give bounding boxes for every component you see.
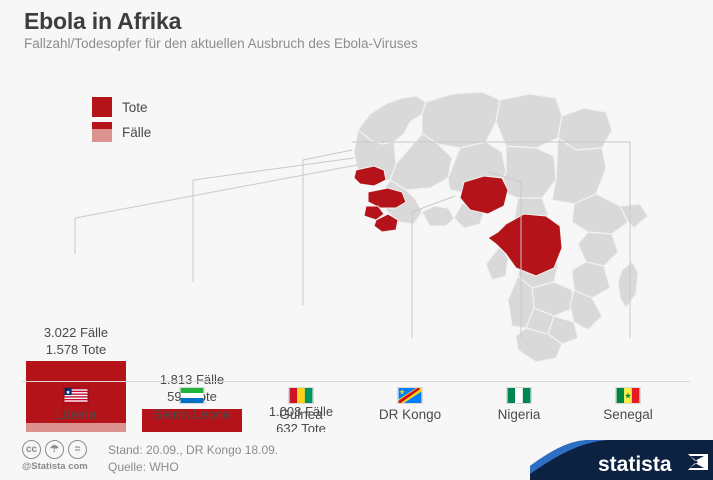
bar-group-sierra-leone: 1.813 Fälle 593 Tote bbox=[142, 99, 242, 480]
tick-sierra-leone: Sierra Leone bbox=[130, 383, 254, 422]
bar-cases-label: 3.022 Fälle bbox=[14, 324, 138, 341]
cc-nd-icon: = bbox=[68, 440, 87, 459]
tick-senegal: Senegal bbox=[566, 383, 690, 422]
flag-senegal-icon bbox=[615, 387, 641, 404]
country-label: Guinea bbox=[239, 407, 363, 422]
source-note: Stand: 20.09., DR Kongo 18.09. Quelle: W… bbox=[108, 442, 278, 476]
bar-group-senegal: 1 Fall 0 Tote bbox=[578, 99, 678, 480]
legend: Tote Fälle bbox=[92, 96, 151, 146]
legend-item-deaths[interactable]: Tote bbox=[92, 96, 151, 118]
creative-commons-block: cc ☂ = @Statista com bbox=[22, 440, 88, 472]
bar-group-liberia: 3.022 Fälle 1.578 Tote bbox=[26, 99, 126, 480]
country-label: Nigeria bbox=[457, 407, 581, 422]
tick-nigeria: Nigeria bbox=[457, 383, 581, 422]
bar-chart: 3.022 Fälle 1.578 Tote 1.813 Fälle 593 T… bbox=[0, 0, 713, 480]
tick-guinea: Guinea bbox=[239, 383, 363, 422]
bar-deaths-label: 1.578 Tote bbox=[14, 341, 138, 358]
country-label: Sierra Leone bbox=[130, 407, 254, 422]
bar-group-guinea: 1.008 Fälle 632 Tote bbox=[251, 99, 351, 480]
source-line-quelle: Quelle: WHO bbox=[108, 459, 278, 476]
legend-label-cases: Fälle bbox=[122, 125, 151, 140]
infographic-root: Ebola in Afrika Fallzahl/Todesopfer für … bbox=[0, 0, 713, 480]
cc-icon: cc bbox=[22, 440, 41, 459]
statista-logo[interactable]: statista bbox=[530, 440, 713, 480]
legend-swatch-deaths-icon bbox=[92, 97, 112, 117]
bar-label-liberia: 3.022 Fälle 1.578 Tote bbox=[14, 324, 138, 358]
bar-group-dr-congo: 68 Fälle 41 Tote bbox=[360, 99, 460, 480]
legend-item-cases[interactable]: Fälle bbox=[92, 121, 151, 143]
legend-label-deaths: Tote bbox=[122, 100, 148, 115]
statista-logo-text: statista bbox=[598, 453, 672, 476]
flag-dr-congo-icon bbox=[397, 387, 423, 404]
cc-by-icon: ☂ bbox=[45, 440, 64, 459]
country-label: DR Kongo bbox=[348, 407, 472, 422]
footer: cc ☂ = @Statista com Stand: 20.09., DR K… bbox=[0, 432, 713, 480]
country-label: Liberia bbox=[14, 407, 138, 422]
statista-logo-svg: statista bbox=[530, 440, 713, 480]
flag-sierra-leone-icon bbox=[179, 387, 205, 404]
legend-swatch-cases-icon bbox=[92, 122, 112, 142]
cc-attribution-label: @Statista com bbox=[22, 461, 88, 472]
flag-guinea-icon bbox=[288, 387, 314, 404]
bar-group-nigeria: 20 Fälle 8 Tote bbox=[469, 99, 569, 480]
source-line-stand: Stand: 20.09., DR Kongo 18.09. bbox=[108, 442, 278, 459]
tick-dr-congo: DR Kongo bbox=[348, 383, 472, 422]
flag-liberia-icon bbox=[63, 387, 89, 404]
tick-liberia: Liberia bbox=[14, 383, 138, 422]
flag-nigeria-icon bbox=[506, 387, 532, 404]
axis-line bbox=[22, 381, 690, 382]
country-label: Senegal bbox=[566, 407, 690, 422]
